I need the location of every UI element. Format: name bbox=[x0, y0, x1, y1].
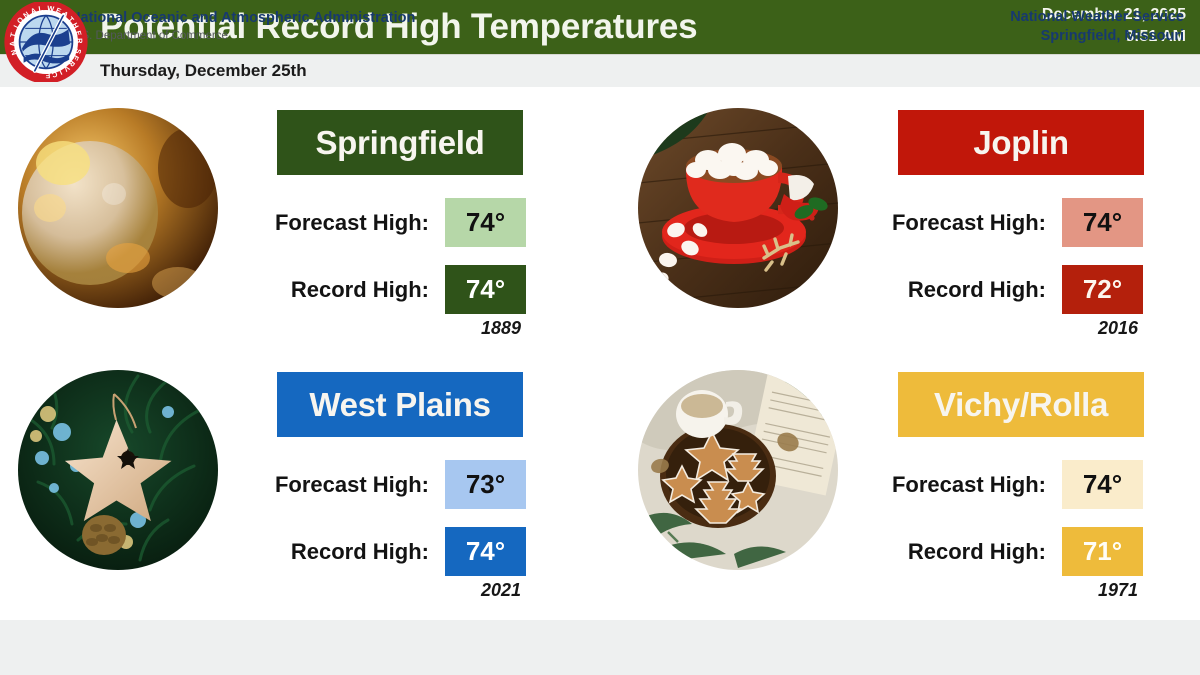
city-name-label: Joplin bbox=[973, 124, 1068, 162]
record-high-value: 72° bbox=[1062, 265, 1143, 314]
record-high-value: 71° bbox=[1062, 527, 1143, 576]
forecast-high-label: Forecast High: bbox=[275, 210, 429, 236]
city-name-bar-west-plains: West Plains bbox=[277, 372, 523, 437]
forecast-high-label: Forecast High: bbox=[892, 472, 1046, 498]
nws-office-text: National Weather Service Springfield, Mi… bbox=[1010, 8, 1184, 46]
forecast-high-label: Forecast High: bbox=[275, 472, 429, 498]
nws-logo: N A T I O N A L W E A T H E R S E R V I bbox=[4, 2, 88, 82]
city-panel-joplin: Joplin Forecast High: 74° Record High: 7… bbox=[630, 100, 1190, 365]
city-name-bar-joplin: Joplin bbox=[898, 110, 1144, 175]
city-panel-springfield: Springfield Forecast High: 74° Record Hi… bbox=[10, 100, 570, 365]
noaa-title: National Oceanic and Atmospheric Adminis… bbox=[70, 9, 415, 28]
forecast-high-value: 74° bbox=[1062, 198, 1143, 247]
record-high-row: Record High: 71° bbox=[630, 527, 1143, 576]
forecast-high-value: 74° bbox=[445, 198, 526, 247]
forecast-high-label: Forecast High: bbox=[892, 210, 1046, 236]
noaa-subtitle: U.S. Department of Commerce bbox=[70, 28, 415, 44]
forecast-high-value: 74° bbox=[1062, 460, 1143, 509]
city-name-label: Springfield bbox=[315, 124, 484, 162]
city-panel-west-plains: West Plains Forecast High: 73° Record Hi… bbox=[10, 362, 570, 627]
record-year: 1889 bbox=[10, 318, 526, 339]
record-high-label: Record High: bbox=[291, 539, 429, 565]
record-high-label: Record High: bbox=[908, 539, 1046, 565]
svg-text:R: R bbox=[75, 38, 84, 44]
nws-office-location: Springfield, Missouri bbox=[1010, 27, 1184, 46]
forecast-day-subtitle: Thursday, December 25th bbox=[100, 56, 307, 86]
city-name-bar-vichy-rolla: Vichy/Rolla bbox=[898, 372, 1144, 437]
city-name-bar-springfield: Springfield bbox=[277, 110, 523, 175]
city-panel-vichy-rolla: Vichy/Rolla Forecast High: 74° Record Hi… bbox=[630, 362, 1190, 627]
record-high-row: Record High: 74° bbox=[10, 527, 526, 576]
record-high-value: 74° bbox=[445, 265, 526, 314]
noaa-agency-text: National Oceanic and Atmospheric Adminis… bbox=[70, 9, 415, 44]
weather-graphic: N A T I O N A L W E A T H E R S E R V I bbox=[0, 0, 1200, 675]
record-year: 2021 bbox=[10, 580, 526, 601]
record-high-row: Record High: 72° bbox=[630, 265, 1143, 314]
city-name-label: Vichy/Rolla bbox=[934, 386, 1108, 424]
record-high-label: Record High: bbox=[908, 277, 1046, 303]
record-high-value: 74° bbox=[445, 527, 526, 576]
record-high-label: Record High: bbox=[291, 277, 429, 303]
footer-band bbox=[0, 620, 1200, 675]
forecast-high-row: Forecast High: 74° bbox=[630, 198, 1143, 247]
forecast-high-row: Forecast High: 74° bbox=[10, 198, 526, 247]
forecast-high-row: Forecast High: 74° bbox=[630, 460, 1143, 509]
nws-office-name: National Weather Service bbox=[1010, 8, 1184, 27]
record-high-row: Record High: 74° bbox=[10, 265, 526, 314]
city-name-label: West Plains bbox=[309, 386, 490, 424]
forecast-high-value: 73° bbox=[445, 460, 526, 509]
svg-text:W: W bbox=[47, 4, 55, 14]
record-year: 1971 bbox=[630, 580, 1143, 601]
record-year: 2016 bbox=[630, 318, 1143, 339]
forecast-high-row: Forecast High: 73° bbox=[10, 460, 526, 509]
